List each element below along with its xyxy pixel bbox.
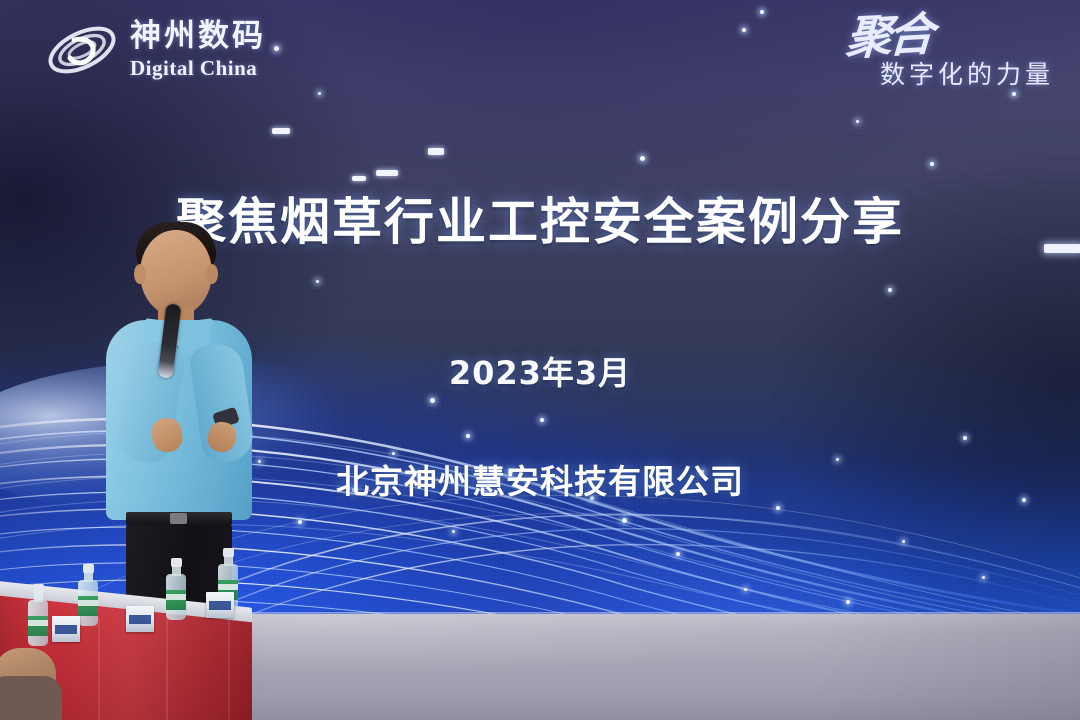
speaker-belt-buckle <box>170 513 187 524</box>
digital-china-logo: 神州数码 Digital China <box>44 18 266 82</box>
logo-english-name: Digital China <box>130 58 266 79</box>
name-card <box>52 616 80 642</box>
water-bottle <box>28 584 48 646</box>
bottle-label <box>166 590 186 610</box>
bottle-label-stripe <box>218 584 238 590</box>
bottle-label-stripe <box>166 594 186 600</box>
event-slogan: 聚合 数字化的力量 <box>846 18 1054 91</box>
logo-chinese-name: 神州数码 <box>130 21 266 52</box>
name-card <box>206 592 234 618</box>
water-bottle <box>78 564 98 626</box>
speaker-ear-left <box>134 264 146 284</box>
cloth-fold <box>228 618 230 720</box>
bottle-label-stripe <box>28 620 48 626</box>
name-card <box>126 606 154 632</box>
cloth-fold <box>166 618 168 720</box>
seated-person-body <box>0 676 62 720</box>
slogan-subtitle: 数字化的力量 <box>880 60 1054 89</box>
bottle-label-stripe <box>78 600 98 606</box>
screenshot-stage: 神州数码 Digital China 聚合 数字化的力量 聚焦烟草行业工控安全案… <box>0 0 1080 720</box>
decorative-dash-bar <box>1044 244 1080 253</box>
water-bottle <box>166 558 186 620</box>
slogan-calligraphy: 聚合 <box>845 16 931 57</box>
bottle-label <box>78 596 98 616</box>
cloth-fold <box>98 618 100 720</box>
digital-china-swirl-logo-icon <box>44 18 120 82</box>
speaker-ear-right <box>206 264 218 284</box>
speaker-head <box>140 230 212 316</box>
bottle-label <box>28 616 48 636</box>
